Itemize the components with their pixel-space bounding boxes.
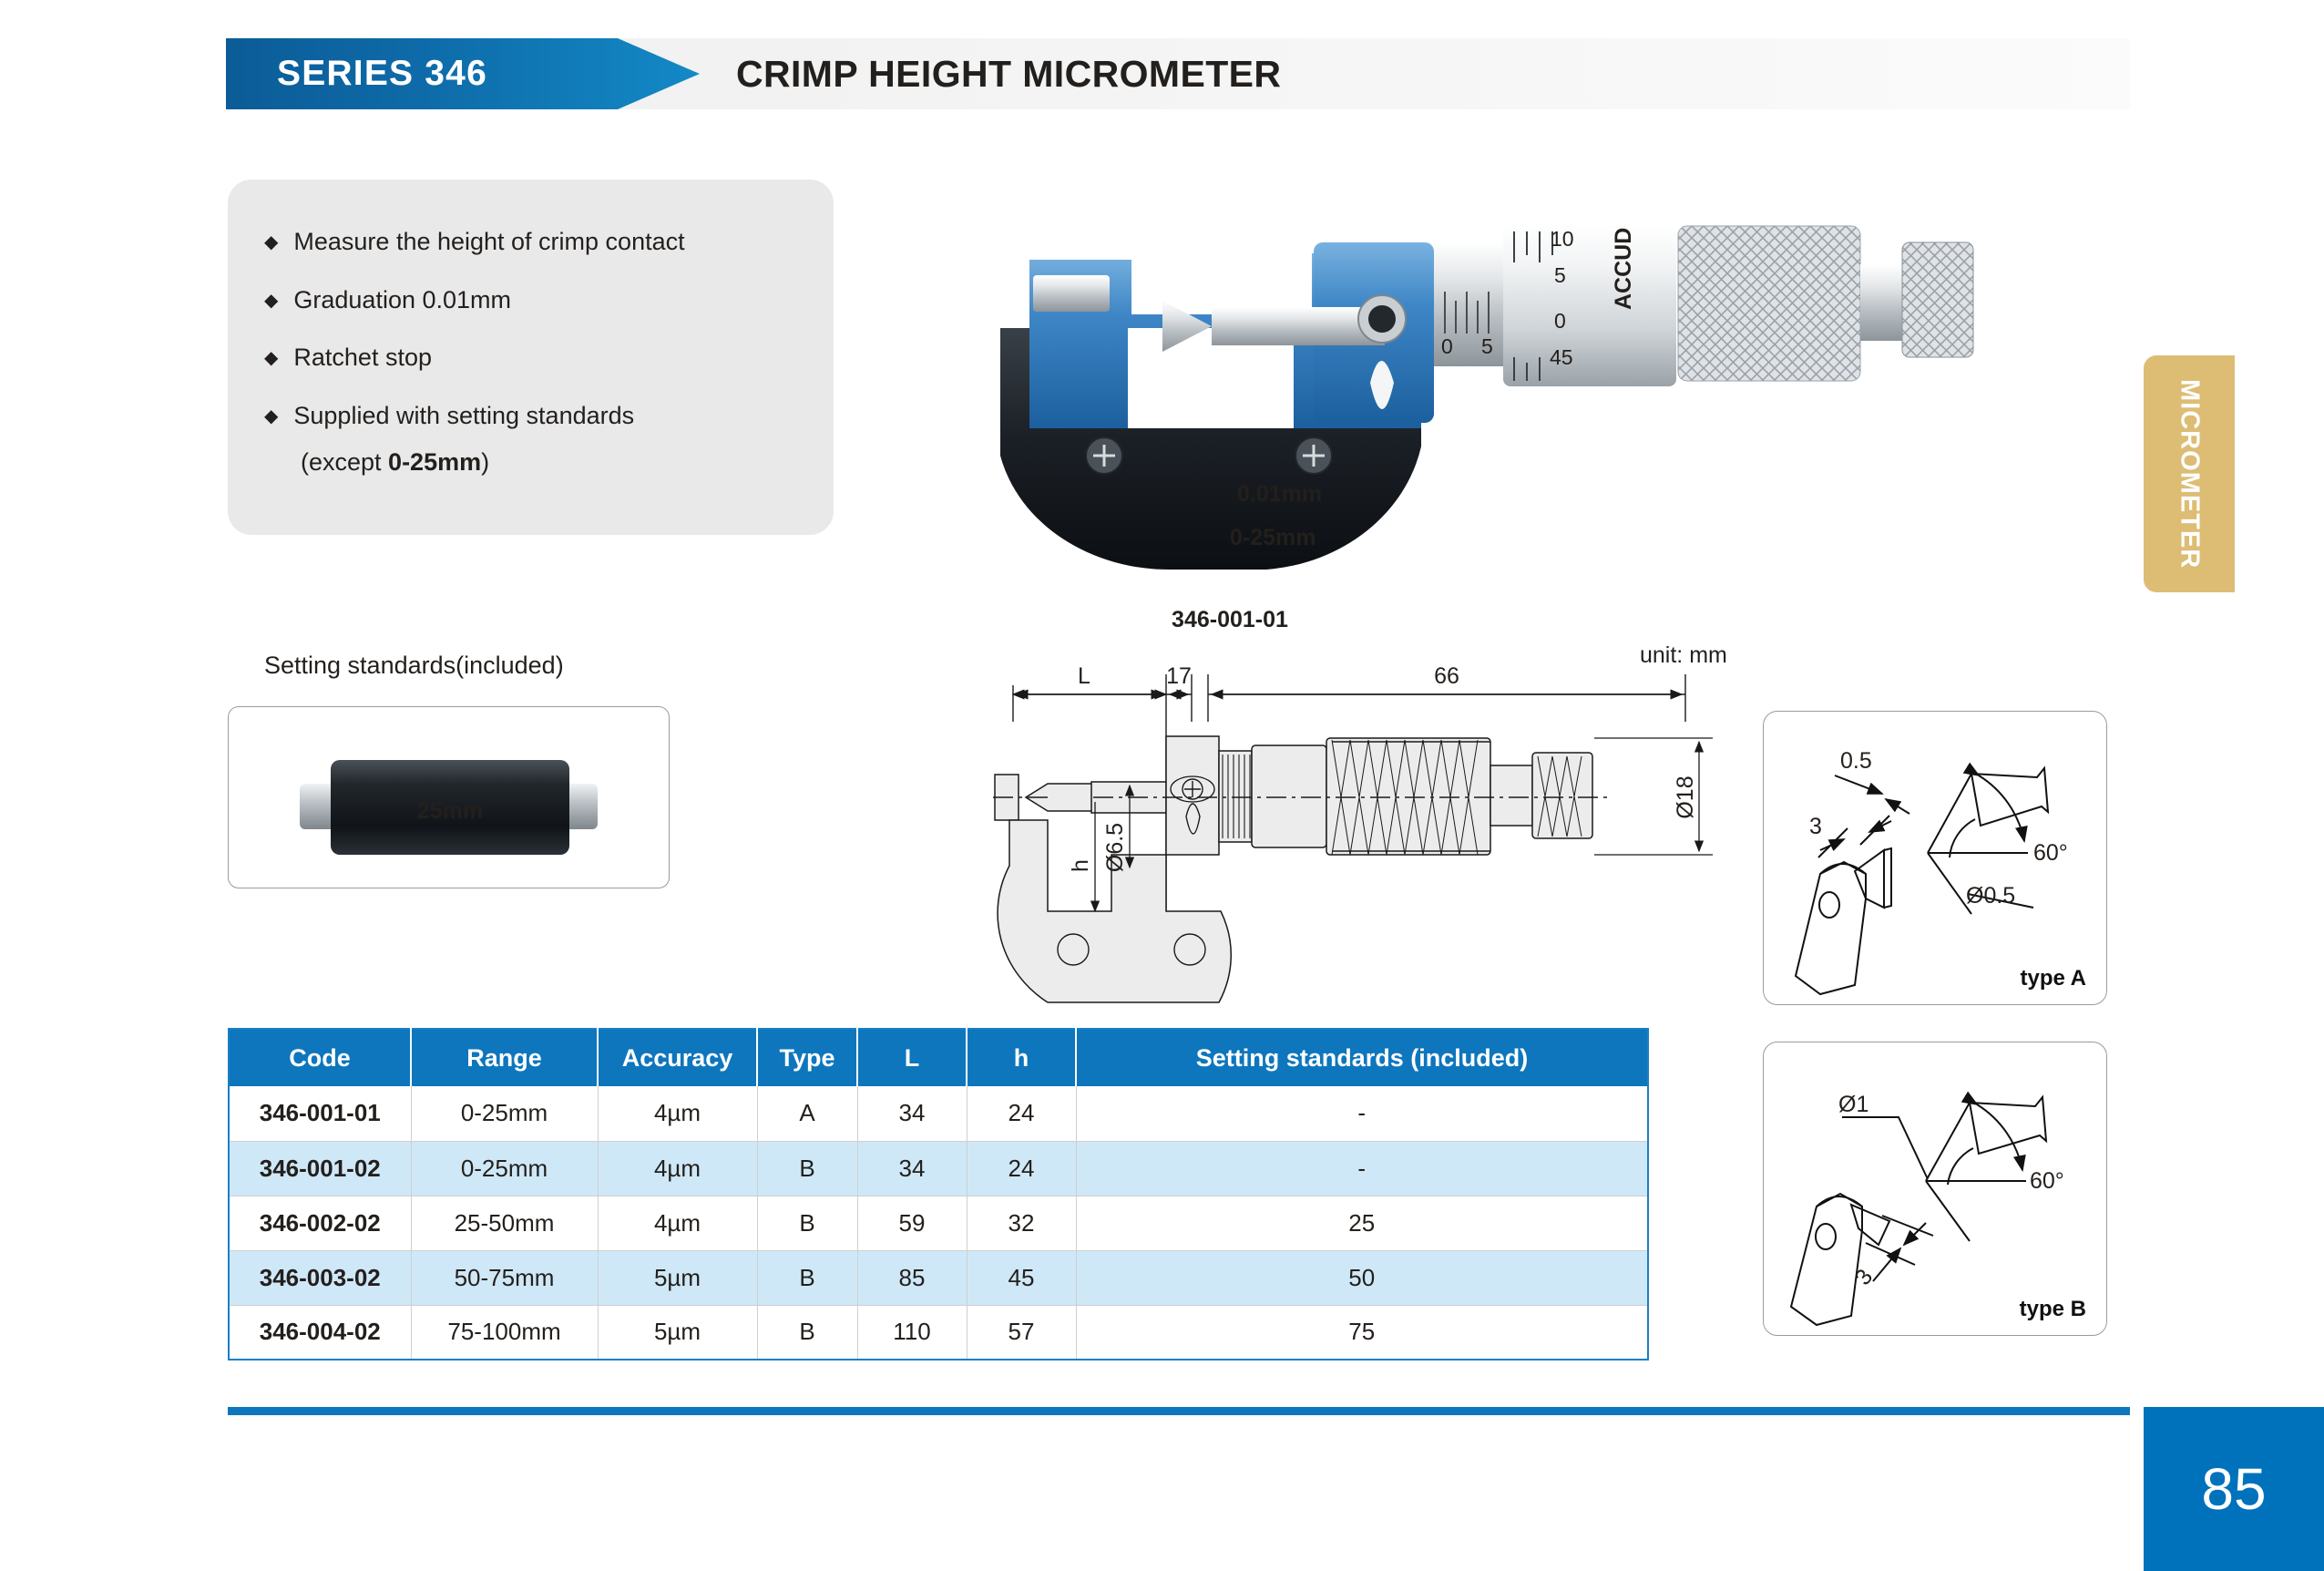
technical-drawing: L 17 66 (993, 638, 1786, 1039)
diamond-bullet-icon: ◆ (264, 232, 278, 252)
diamond-bullet-icon: ◆ (264, 291, 278, 311)
ratchet-shaft (1860, 264, 1902, 341)
cell-l: 59 (857, 1196, 967, 1250)
col-header-code: Code (229, 1029, 411, 1086)
tip-blade-a (1855, 850, 1884, 908)
cell-standards: - (1076, 1141, 1648, 1196)
ratchet-stop (1902, 242, 1973, 357)
cell-accuracy: 4µm (598, 1086, 757, 1141)
tip-blade-edge-a (1884, 848, 1891, 908)
dwg-sleeve-ring (1219, 751, 1252, 842)
cell-type: B (757, 1196, 857, 1250)
cell-accuracy: 4µm (598, 1141, 757, 1196)
page-title: CRIMP HEIGHT MICROMETER (736, 38, 1281, 109)
dim-label-17: 17 (1166, 663, 1192, 689)
type-b-detail-drawing: Ø1 60° 3 (1764, 1042, 2105, 1334)
dwg-thimble (1326, 738, 1490, 855)
cell-h: 32 (967, 1196, 1076, 1250)
cell-l: 34 (857, 1141, 967, 1196)
type-b-panel: Ø1 60° 3 type B (1763, 1042, 2107, 1336)
type-b-dim-angle: 60° (2030, 1168, 2064, 1194)
col-header-accuracy: Accuracy (598, 1029, 757, 1086)
dim-label-h: h (1068, 859, 1093, 872)
angle-arc-b (1948, 1148, 1973, 1185)
cell-accuracy: 5µm (598, 1305, 757, 1360)
type-a-panel: 0.5 3 60° Ø0.5 type A (1763, 711, 2107, 1005)
thimble-tick-10: 10 (1551, 227, 1574, 251)
photo-label-graduation: 0.01mm (1237, 481, 1322, 507)
cell-code: 346-004-02 (229, 1305, 411, 1360)
cell-l: 85 (857, 1250, 967, 1305)
dwg-ratchet (1532, 753, 1592, 838)
knurled-grip (1678, 226, 1860, 381)
exception-prefix: (except (301, 448, 388, 476)
feature-exception-note: (except 0-25mm) (264, 448, 834, 477)
col-header-type: Type (757, 1029, 857, 1086)
tip-blade-b (1851, 1205, 1889, 1245)
col-header-setting-standards: Setting standards (included) (1076, 1029, 1648, 1086)
feature-text: Ratchet stop (293, 344, 432, 372)
dwg-shaft (1490, 765, 1532, 826)
dim-label-66: 66 (1434, 663, 1459, 689)
table-row: 346-001-01 0-25mm 4µm A 34 24 - (229, 1086, 1648, 1141)
dim-label-diameter-6p5: Ø6.5 (1102, 823, 1128, 872)
tip-hole-a (1819, 892, 1839, 918)
cell-h: 45 (967, 1250, 1076, 1305)
page-header: SERIES 346 CRIMP HEIGHT MICROMETER (226, 38, 2130, 109)
table-row: 346-003-02 50-75mm 5µm B 85 45 50 (229, 1250, 1648, 1305)
setting-standard-gauge-image: 25mm (229, 707, 669, 887)
feature-item: ◆ Graduation 0.01mm (264, 287, 834, 314)
cell-standards: - (1076, 1086, 1648, 1141)
photo-label-range: 0-25mm (1230, 525, 1316, 550)
thimble-tick-5: 5 (1554, 263, 1566, 287)
anvil (1033, 275, 1110, 312)
tip-body-a (1796, 862, 1866, 994)
footer-divider (228, 1407, 2130, 1415)
dwg-sleeve (1252, 745, 1326, 847)
col-header-h: h (967, 1029, 1076, 1086)
cell-standards: 75 (1076, 1305, 1648, 1360)
table-row: 346-001-02 0-25mm 4µm B 34 24 - (229, 1141, 1648, 1196)
catalog-page: SERIES 346 CRIMP HEIGHT MICROMETER ◆ Mea… (0, 0, 2324, 1571)
exception-suffix: ) (481, 448, 489, 476)
setting-standards-panel: 25mm (228, 706, 670, 888)
cell-type: B (757, 1250, 857, 1305)
diamond-bullet-icon: ◆ (264, 348, 278, 368)
sleeve-tick-0: 0 (1441, 334, 1453, 358)
cell-range: 75-100mm (411, 1305, 598, 1360)
table-row: 346-002-02 25-50mm 4µm B 59 32 25 (229, 1196, 1648, 1250)
feature-text: Measure the height of crimp contact (293, 229, 684, 256)
series-label: SERIES 346 (226, 54, 487, 94)
cell-type: A (757, 1086, 857, 1141)
cell-range: 0-25mm (411, 1086, 598, 1141)
dimensioned-drawing: L 17 66 (993, 638, 1786, 1039)
cone-face-b (1970, 1097, 2046, 1154)
feature-text: Graduation 0.01mm (293, 287, 511, 314)
cell-l: 110 (857, 1305, 967, 1360)
cell-code: 346-002-02 (229, 1196, 411, 1250)
thimble (1503, 224, 1676, 386)
features-panel: ◆ Measure the height of crimp contact ◆ … (228, 180, 834, 535)
dim-label-diameter-18: Ø18 (1673, 775, 1698, 818)
cell-code: 346-001-02 (229, 1141, 411, 1196)
cell-standards: 25 (1076, 1196, 1648, 1250)
photo-caption: 346-001-01 (993, 607, 1467, 633)
section-tab-label: MICROMETER (2175, 379, 2205, 569)
tip-body-b (1791, 1194, 1862, 1325)
angle-arc-a (1950, 819, 1975, 857)
tip-round-b (1817, 1196, 1862, 1206)
brand-logo: ACCUD (1611, 228, 1636, 310)
thimble-tick-45: 45 (1550, 345, 1573, 369)
cell-accuracy: 5µm (598, 1250, 757, 1305)
type-a-dim-0p5: 0.5 (1840, 748, 1872, 774)
product-photo: 10 5 0 45 0 5 ACCUD 0.01mm 0-25mm (993, 155, 2022, 611)
crimp-point (1162, 301, 1212, 352)
cell-code: 346-003-02 (229, 1250, 411, 1305)
setting-standards-title: Setting standards(included) (264, 652, 564, 680)
section-tab-micrometer: MICROMETER (2144, 355, 2235, 592)
type-b-dim-d1: Ø1 (1838, 1092, 1868, 1117)
gauge-label: 25mm (417, 798, 483, 824)
cell-h: 24 (967, 1141, 1076, 1196)
feature-item: ◆ Supplied with setting standards (264, 403, 834, 430)
cell-accuracy: 4µm (598, 1196, 757, 1250)
series-badge: SERIES 346 (226, 38, 700, 109)
cell-type: B (757, 1141, 857, 1196)
type-a-dim-3: 3 (1809, 814, 1822, 839)
type-b-label: type B (2020, 1297, 2086, 1322)
thimble-tick-0: 0 (1554, 309, 1566, 333)
table-row: 346-004-02 75-100mm 5µm B 110 57 75 (229, 1305, 1648, 1360)
feature-text: Supplied with setting standards (293, 403, 634, 430)
clamp-screw-head (1368, 305, 1396, 333)
sleeve-tick-5: 5 (1481, 334, 1493, 358)
feature-item: ◆ Measure the height of crimp contact (264, 229, 834, 256)
page-number-badge: 85 (2144, 1407, 2324, 1571)
cell-h: 24 (967, 1086, 1076, 1141)
cone-face-a (1971, 768, 2048, 826)
type-a-detail-drawing: 0.5 3 60° Ø0.5 (1764, 712, 2105, 1003)
type-a-dim-d0p5: Ø0.5 (1966, 883, 2015, 909)
table-header-row: Code Range Accuracy Type L h Setting sta… (229, 1029, 1648, 1086)
micrometer-illustration: 10 5 0 45 0 5 ACCUD 0.01mm 0-25mm (993, 155, 2022, 611)
cell-h: 57 (967, 1305, 1076, 1360)
cell-range: 25-50mm (411, 1196, 598, 1250)
cell-type: B (757, 1305, 857, 1360)
cell-l: 34 (857, 1086, 967, 1141)
specifications-table: Code Range Accuracy Type L h Setting sta… (228, 1028, 1649, 1361)
cell-code: 346-001-01 (229, 1086, 411, 1141)
type-a-label: type A (2021, 966, 2086, 991)
exception-range: 0-25mm (388, 448, 481, 476)
page-number: 85 (2201, 1455, 2266, 1523)
col-header-range: Range (411, 1029, 598, 1086)
cell-standards: 50 (1076, 1250, 1648, 1305)
col-header-l: L (857, 1029, 967, 1086)
feature-item: ◆ Ratchet stop (264, 344, 834, 372)
tip-hole-b (1816, 1224, 1836, 1249)
dim-label-L: L (1078, 663, 1090, 689)
cell-range: 0-25mm (411, 1141, 598, 1196)
type-a-dim-angle: 60° (2033, 840, 2068, 866)
cell-range: 50-75mm (411, 1250, 598, 1305)
diamond-bullet-icon: ◆ (264, 406, 278, 426)
